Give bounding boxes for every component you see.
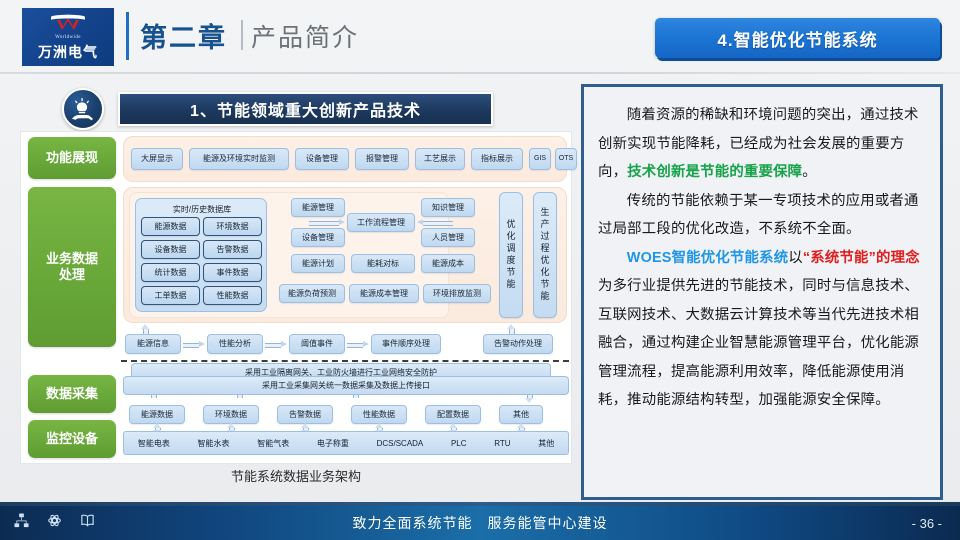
section-chip-label: 4.智能优化节能系统 [717,26,877,51]
data-box-config[interactable]: 配置数据 [425,405,481,424]
security-dashed-divider [121,360,569,362]
data-box-env[interactable]: 环境数据 [203,405,259,424]
box-label: 设备数据 [155,245,187,255]
box-label: 告警动作处理 [494,339,542,349]
biz-box-load-forecast[interactable]: 能源负荷预测 [279,284,345,303]
p3-text-b: 以 [788,250,803,266]
p3-concept-highlight: “系统节能”的理念 [803,250,920,266]
architecture-diagram: 功能展现 业务数据处理 数据采集 监控设备 大屏显示 能源及环境实时监测 设备管… [20,131,572,464]
box-label: 优化调度节能 [505,219,518,291]
box-label: 生产过程优化节能 [539,207,552,303]
chapter-subtitle: 产品简介 [251,18,359,54]
biz-box-cost-mgmt[interactable]: 能源成本管理 [349,284,419,303]
box-label: 工单数据 [155,291,187,301]
db-box-stats[interactable]: 统计数据 [141,263,200,282]
fn-box-bigscreen[interactable]: 大屏显示 [131,148,183,170]
db-box-perf[interactable]: 性能数据 [203,286,262,305]
box-label: 性能分析 [219,339,251,349]
header-accent-bar [126,12,129,60]
lane-label: 业务数据处理 [43,251,101,284]
slide-root: Worldwide 万洲电气 第二章 产品简介 4.智能优化节能系统 1、节能领… [0,0,960,540]
box-label: 设备管理 [306,154,338,164]
flow-box-event-sequence[interactable]: 事件顺序处理 [371,334,441,354]
biz-box-emission-mon[interactable]: 环境排放监测 [423,284,491,303]
arrow-to-workflow-right [417,219,453,226]
biz-box-device-mgmt[interactable]: 设备管理 [291,228,345,247]
box-label: 性能数据 [217,291,249,301]
box-label: 性能数据 [363,410,395,420]
biz-box-energy-cost[interactable]: 能源成本 [421,254,475,273]
db-box-energy[interactable]: 能源数据 [141,217,200,236]
chapter-title: 第二章 [140,16,227,55]
flow-box-threshold-event[interactable]: 阈值事件 [289,334,345,354]
box-label: 能源成本管理 [360,289,408,299]
data-box-alarm[interactable]: 告警数据 [277,405,333,424]
logo-company-name: 万洲电气 [38,42,98,62]
box-label: 能源数据 [141,410,173,420]
flow-box-perf-analysis[interactable]: 性能分析 [207,334,263,354]
device-label-gas: 智能气表 [243,438,303,449]
box-label: 能耗对标 [367,259,399,269]
lane-monitor-devices: 监控设备 [28,420,116,458]
box-label: 工作流程管理 [357,218,405,228]
biz-box-benchmark[interactable]: 能耗对标 [351,254,415,273]
box-label: 阈值事件 [301,339,333,349]
box-label: OTS [559,155,573,163]
diagram-caption: 节能系统数据业务架构 [20,466,572,485]
hand-lightbulb-icon [62,88,104,130]
header-separator [241,20,243,50]
biz-box-energy-mgmt[interactable]: 能源管理 [291,198,345,217]
box-label: 能源成本 [432,259,464,269]
box-label: 报警管理 [366,154,398,164]
device-label-other: 其他 [524,438,568,449]
section-band-label: 1、节能领域重大创新产品技术 [190,97,421,121]
logo-sub-text: Worldwide [55,35,81,40]
box-label: 环境数据 [215,410,247,420]
data-box-perf[interactable]: 性能数据 [351,405,407,424]
box-label: 人员管理 [432,233,464,243]
p3-text-d: 为多行业提供先进的节能技术，同时与信息技术、互联网技术、大数据云计算技术等当代先… [598,278,919,408]
db-box-event[interactable]: 事件数据 [203,263,262,282]
device-label-rtu: RTU [480,439,524,448]
lane-label: 数据采集 [46,386,98,402]
paragraph-3: WOES智能优化节能系统以“系统节能”的理念为多行业提供先进的节能技术，同时与信… [598,244,926,415]
p1-text-b: 。 [802,164,817,180]
box-label: 能源数据 [155,222,187,232]
flow-box-alarm-action[interactable]: 告警动作处理 [483,334,553,354]
arrow-flow-2 [265,341,287,348]
fn-box-realtime[interactable]: 能源及环境实时监测 [189,148,289,170]
box-label: 设备管理 [302,233,334,243]
lane-function-display: 功能展现 [28,137,116,179]
box-label: 环境排放监测 [433,289,481,299]
biz-box-workflow-mgmt[interactable]: 工作流程管理 [347,213,415,232]
box-label: 统计数据 [155,268,187,278]
box-label: 配置数据 [437,410,469,420]
arrow-flow-3 [347,341,369,348]
device-label-scale: 电子称重 [303,438,363,449]
box-label: 事件顺序处理 [382,339,430,349]
box-label: 工艺展示 [424,154,456,164]
box-label: 能源信息 [137,339,169,349]
fn-box-ots[interactable]: OTS [555,148,577,170]
gateway-bar: 采用工业采集网关统一数据采集及数据上传接口 [123,376,569,395]
paragraph-1: 随着资源的稀缺和环境问题的突出，通过技术创新实现节能降耗，已经成为社会发展的重要… [598,101,926,187]
lane-business-processing: 业务数据处理 [28,187,116,347]
lane-label: 功能展现 [46,150,98,166]
box-label: 知识管理 [432,203,464,213]
device-label-meter: 智能电表 [124,438,184,449]
lane-data-acquisition: 数据采集 [28,375,116,413]
fn-box-equipment[interactable]: 设备管理 [295,148,349,170]
w-logo-icon [46,12,90,34]
data-box-other[interactable]: 其他 [499,405,543,424]
p1-highlight: 技术创新是节能的重要保障 [627,164,802,180]
box-label: 能源负荷预测 [288,289,336,299]
bar-label: 采用工业采集网关统一数据采集及数据上传接口 [262,380,430,391]
device-label-water: 智能水表 [184,438,244,449]
device-label-dcs: DCS/SCADA [363,439,437,448]
box-label: 能源管理 [302,203,334,213]
db-box-worksheet[interactable]: 工单数据 [141,286,200,305]
device-label-plc: PLC [437,439,480,448]
arrow-to-workflow-left [309,219,345,226]
biz-box-staff-mgmt[interactable]: 人员管理 [421,228,475,247]
opt-box-production[interactable]: 生产过程优化节能 [533,192,557,318]
page-number: - 36 - [912,516,942,531]
box-label: GIS [534,155,546,163]
box-label: 指标展示 [481,154,513,164]
box-label: 告警数据 [289,410,321,420]
box-label: 能源计划 [302,259,334,269]
footer-slogan: 致力全面系统节能 服务能管中心建设 [0,513,960,533]
biz-box-knowledge-mgmt[interactable]: 知识管理 [421,198,475,217]
box-label: 事件数据 [217,268,249,278]
fn-box-alarm[interactable]: 报警管理 [355,148,409,170]
fn-box-process[interactable]: 工艺展示 [415,148,465,170]
arrow-flow-1 [183,341,205,348]
database-card: 实时/历史数据库 能源数据 环境数据 设备数据 告警数据 统计数据 事件数据 工… [135,198,267,312]
opt-box-dispatch[interactable]: 优化调度节能 [499,192,523,318]
company-logo: Worldwide 万洲电气 [22,8,114,66]
description-panel: 随着资源的稀缺和环境问题的突出，通过技术创新实现节能降耗，已经成为社会发展的重要… [581,84,943,500]
box-label: 环境数据 [217,222,249,232]
db-box-device[interactable]: 设备数据 [141,240,200,259]
section-chip: 4.智能优化节能系统 [655,18,940,58]
fn-box-gis[interactable]: GIS [529,148,551,170]
db-box-env[interactable]: 环境数据 [203,217,262,236]
box-label: 其他 [513,410,529,420]
data-box-energy[interactable]: 能源数据 [129,405,185,424]
p3-product-name: WOES智能优化节能系统 [627,250,789,266]
device-bar: 智能电表 智能水表 智能气表 电子称重 DCS/SCADA PLC RTU 其他 [123,431,569,455]
footer-bar: 致力全面系统节能 服务能管中心建设 - 36 - [0,506,960,540]
flow-box-energy-info[interactable]: 能源信息 [125,334,181,354]
box-label: 告警数据 [217,245,249,255]
box-label: 大屏显示 [141,154,173,164]
biz-box-energy-plan[interactable]: 能源计划 [291,254,345,273]
section-band: 1、节能领域重大创新产品技术 [118,92,493,126]
paragraph-2: 传统的节能依赖于某一专项技术的应用或者通过局部工段的优化改造，不系统不全面。 [598,187,926,244]
lane-label: 监控设备 [46,431,98,447]
db-box-alarm[interactable]: 告警数据 [203,240,262,259]
box-label: 能源及环境实时监测 [203,154,275,164]
fn-box-indicators[interactable]: 指标展示 [471,148,523,170]
database-title: 实时/历史数据库 [136,204,268,215]
header-rule [0,72,960,74]
